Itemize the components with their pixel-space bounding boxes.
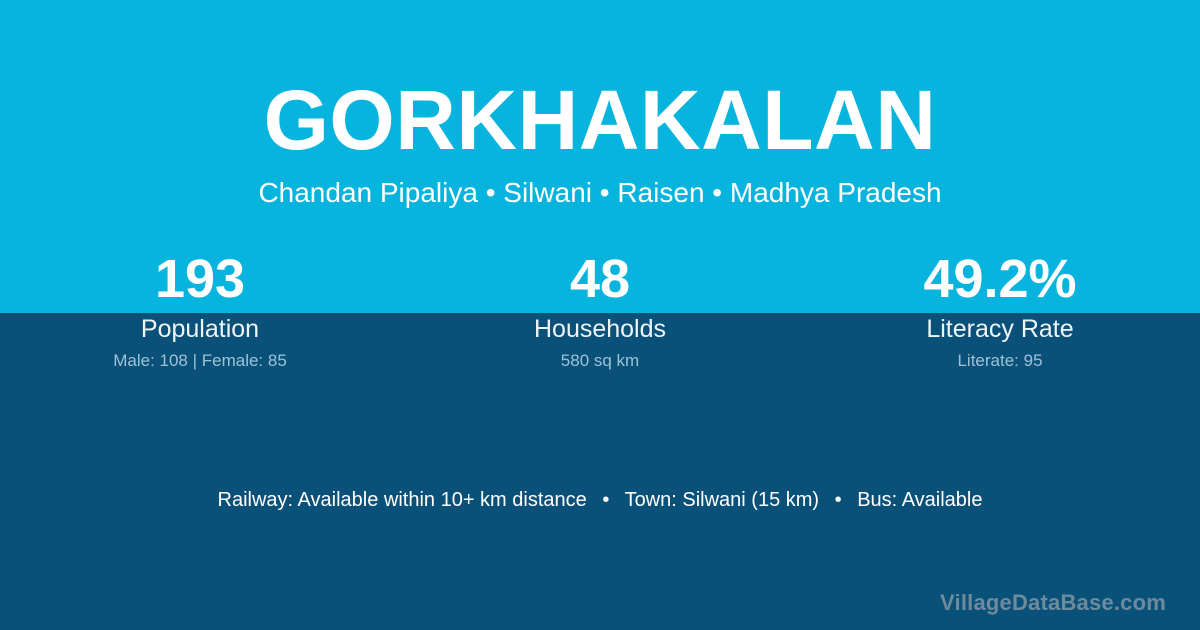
stat-sub-households: 580 sq km — [400, 350, 800, 372]
stat-literacy-rate: 49.2% Literacy Rate Literate: 95 — [800, 248, 1200, 372]
header-section: GORKHAKALAN Chandan Pipaliya • Silwani •… — [0, 0, 1200, 209]
infrastructure-town: Town: Silwani (15 km) — [625, 489, 820, 511]
stat-value-population: 193 — [0, 248, 400, 310]
stat-population: 193 Population Male: 108 | Female: 85 — [0, 248, 400, 372]
site-brand-watermark: VillageDataBase.com — [940, 589, 1166, 617]
infrastructure-railway: Railway: Available within 10+ km distanc… — [218, 489, 587, 511]
stat-households: 48 Households 580 sq km — [400, 248, 800, 372]
infrastructure-row: Railway: Available within 10+ km distanc… — [0, 486, 1200, 514]
stat-label-population: Population — [0, 314, 400, 344]
stat-sub-literacy-rate: Literate: 95 — [800, 350, 1200, 372]
stat-sub-population: Male: 108 | Female: 85 — [0, 350, 400, 372]
stat-label-literacy-rate: Literacy Rate — [800, 314, 1200, 344]
page-title: GORKHAKALAN — [0, 78, 1200, 162]
infrastructure-bus: Bus: Available — [857, 489, 982, 511]
stat-value-literacy-rate: 49.2% — [800, 248, 1200, 310]
stat-label-households: Households — [400, 314, 800, 344]
bullet-separator-icon: • — [825, 489, 852, 511]
stats-row: 193 Population Male: 108 | Female: 85 48… — [0, 248, 1200, 372]
stat-value-households: 48 — [400, 248, 800, 310]
bullet-separator-icon: • — [592, 489, 619, 511]
breadcrumb: Chandan Pipaliya • Silwani • Raisen • Ma… — [0, 178, 1200, 209]
village-info-card: GORKHAKALAN Chandan Pipaliya • Silwani •… — [0, 0, 1200, 630]
